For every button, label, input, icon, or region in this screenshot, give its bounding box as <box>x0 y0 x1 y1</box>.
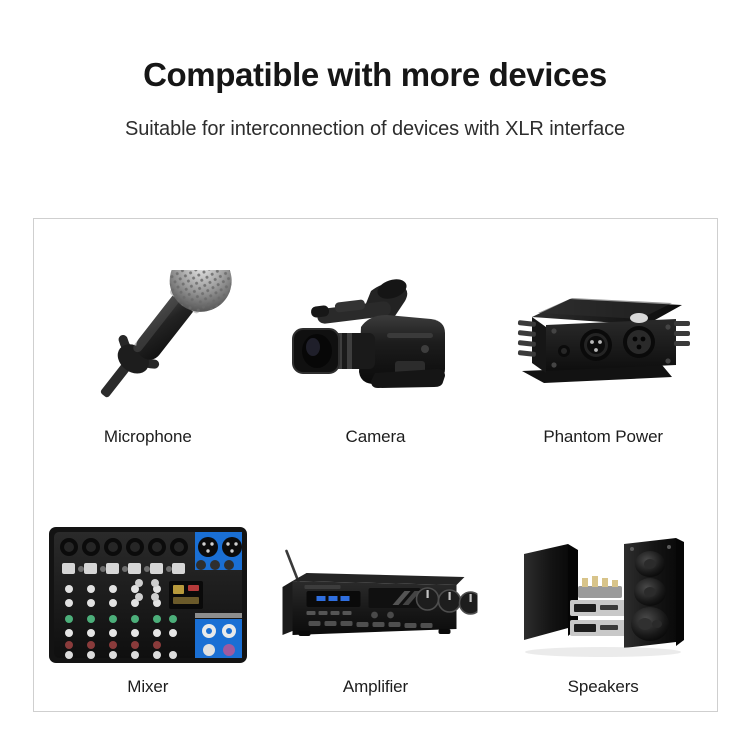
speakers-icon <box>489 519 717 671</box>
device-label: Mixer <box>127 677 168 697</box>
microphone-icon <box>34 269 262 421</box>
page-subtitle: Suitable for interconnection of devices … <box>0 118 750 141</box>
page-title: Compatible with more devices <box>0 56 750 94</box>
device-cell-microphone[interactable]: Microphone <box>34 219 262 465</box>
audio-mixer-icon <box>34 519 262 671</box>
device-label: Speakers <box>568 677 639 697</box>
camcorder-icon <box>262 269 490 421</box>
promo-page: Compatible with more devices Suitable fo… <box>0 0 750 750</box>
device-label: Amplifier <box>343 677 408 697</box>
device-cell-amplifier[interactable]: Amplifier <box>262 465 490 711</box>
device-label: Camera <box>346 427 406 447</box>
device-grid: Microphone <box>34 219 717 711</box>
device-cell-mixer[interactable]: Mixer <box>34 465 262 711</box>
amplifier-icon <box>262 519 490 671</box>
device-cell-phantom-power[interactable]: Phantom Power <box>489 219 717 465</box>
device-cell-speakers[interactable]: Speakers <box>489 465 717 711</box>
phantom-power-icon <box>489 269 717 421</box>
device-grid-card: Microphone <box>33 218 718 712</box>
device-cell-camera[interactable]: Camera <box>262 219 490 465</box>
device-label: Microphone <box>104 427 192 447</box>
device-label: Phantom Power <box>543 427 663 447</box>
